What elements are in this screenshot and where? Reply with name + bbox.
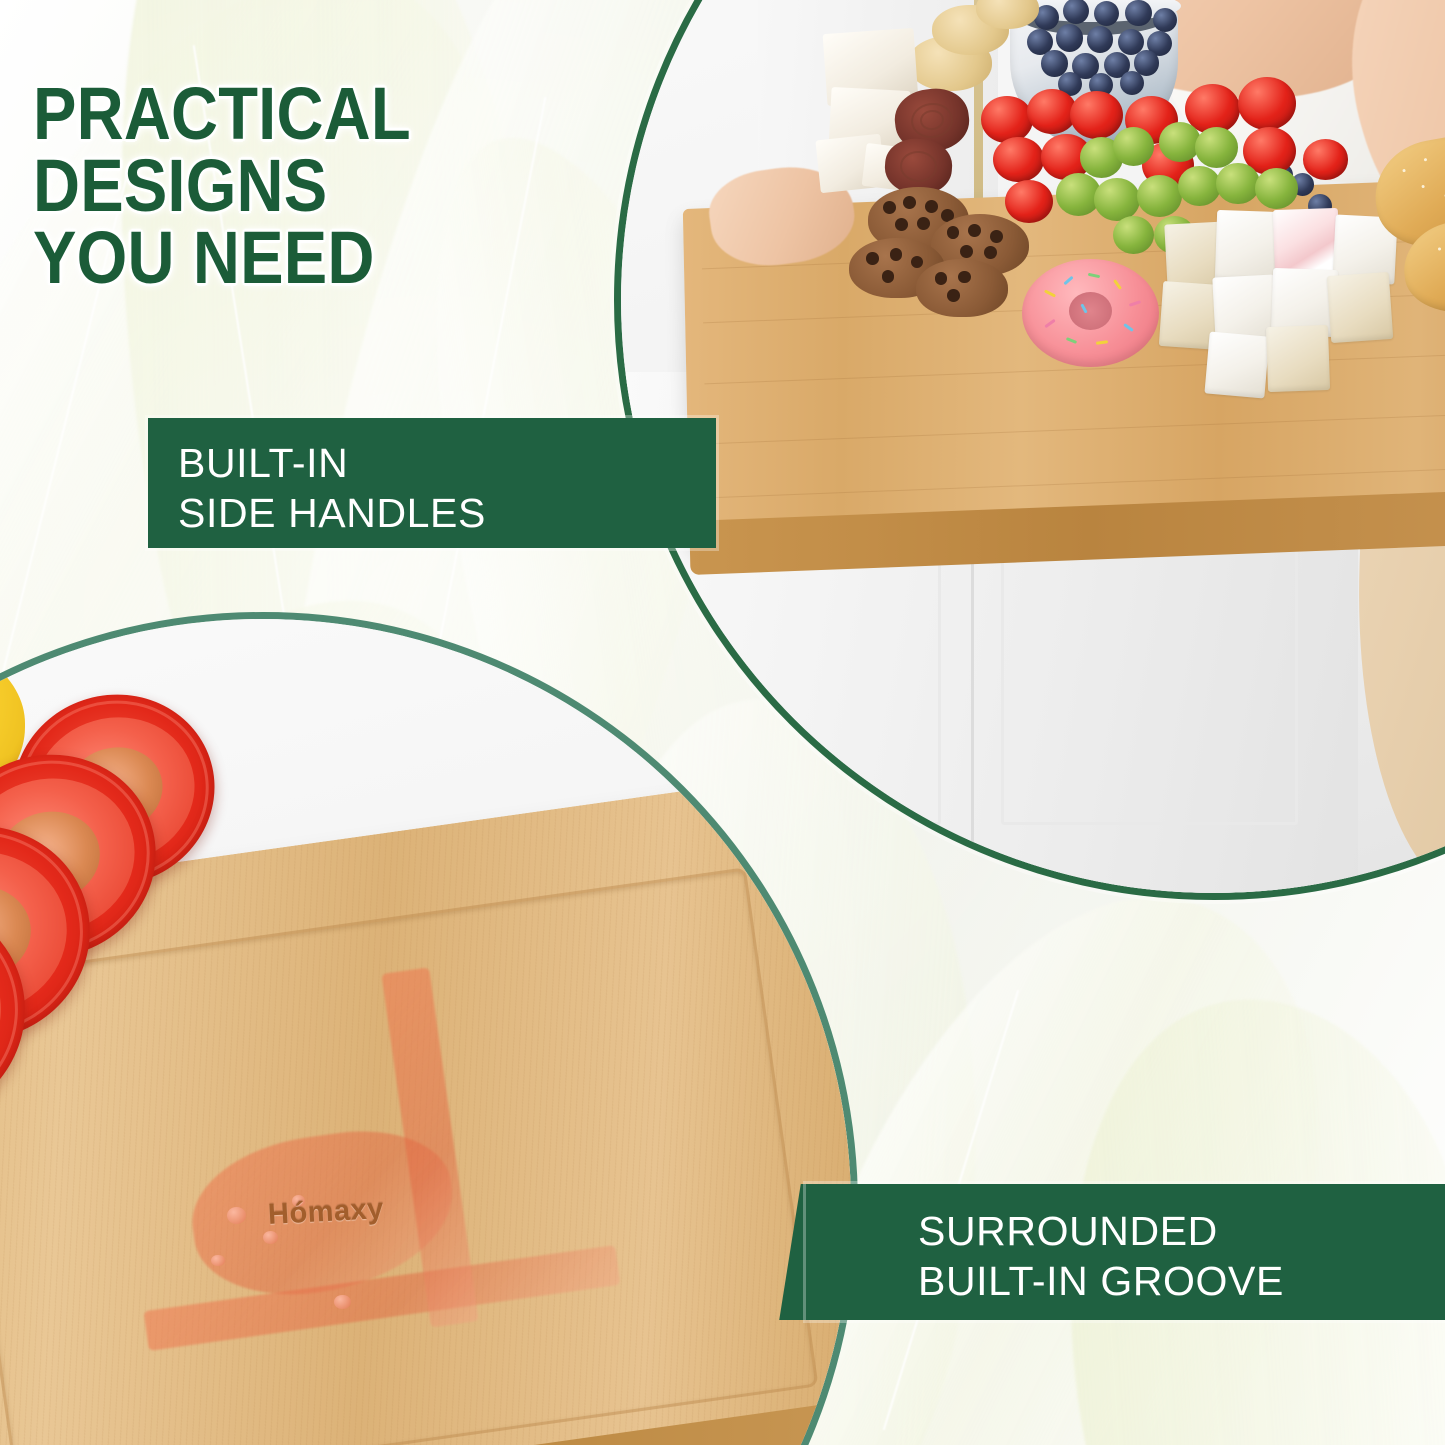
chocolate-chip xyxy=(890,248,902,261)
photo-cutting-board xyxy=(0,612,858,1445)
green-plum xyxy=(1094,178,1140,221)
sprinkle xyxy=(1113,279,1122,290)
chocolate-chip xyxy=(984,246,997,259)
sprinkle xyxy=(1044,289,1056,297)
cherry-tomato xyxy=(1005,180,1053,223)
blueberry xyxy=(1125,0,1151,26)
sprinkle xyxy=(1096,340,1108,345)
sprinkle xyxy=(1129,301,1141,308)
infographic-canvas: Hómaxy PRACTICAL DESIGNS YOU NEED BUILT-… xyxy=(0,0,1445,1445)
sesame-seed xyxy=(1421,185,1424,188)
cherry-tomato xyxy=(993,137,1043,183)
green-plum xyxy=(1216,163,1259,204)
sesame-seed xyxy=(1424,158,1427,161)
green-plum xyxy=(1255,168,1298,209)
chocolate-chip-cookie xyxy=(916,259,1007,317)
cake-cube xyxy=(1266,325,1331,392)
sesame-seed xyxy=(1437,247,1440,250)
sprinkle xyxy=(1087,273,1099,278)
feature-banner-side-handles: BUILT-IN SIDE HANDLES xyxy=(148,418,716,548)
chocolate-chip xyxy=(911,256,923,269)
chocolate-chip xyxy=(882,270,894,283)
cake-cube xyxy=(1204,331,1269,398)
chocolate-chip xyxy=(866,252,878,265)
green-plum xyxy=(1137,175,1181,217)
chocolate-chip xyxy=(958,271,971,284)
chocolate-chip xyxy=(990,230,1003,243)
page-title: PRACTICAL DESIGNS YOU NEED xyxy=(33,78,719,293)
pink-sprinkle-donut xyxy=(1022,259,1159,367)
sprinkle xyxy=(1066,337,1077,344)
chocolate-chip xyxy=(947,289,960,302)
headline-line-1: PRACTICAL DESIGNS xyxy=(33,72,410,227)
chocolate-chip xyxy=(917,217,930,230)
chocolate-chip xyxy=(960,245,973,258)
brand-logo-engraved: Hómaxy xyxy=(267,1193,384,1232)
board-grain xyxy=(705,411,1445,445)
cherry-tomato xyxy=(1070,91,1123,139)
chocolate-chip xyxy=(947,226,960,239)
cake-cube xyxy=(1327,271,1394,342)
cherry-tomato xyxy=(1238,77,1296,130)
roll-swirl xyxy=(899,150,939,183)
chocolate-chip xyxy=(935,272,948,285)
chocolate-chip xyxy=(925,200,938,213)
blueberry xyxy=(1087,26,1113,52)
sesame-seed xyxy=(1402,169,1405,172)
cake-cube xyxy=(1215,210,1280,282)
headline-line-2: YOU NEED xyxy=(33,222,719,294)
juice-droplet xyxy=(227,1207,246,1224)
feature-banner-built-in-groove-label: SURROUNDED BUILT-IN GROOVE xyxy=(918,1206,1445,1306)
sprinkle xyxy=(1063,275,1073,285)
board-grain xyxy=(707,465,1445,499)
sprinkle xyxy=(1044,319,1055,328)
feature-banner-built-in-groove: SURROUNDED BUILT-IN GROOVE xyxy=(806,1184,1445,1320)
green-plum xyxy=(1113,216,1154,254)
feature-banner-side-handles-label: BUILT-IN SIDE HANDLES xyxy=(178,438,716,538)
chocolate-chip xyxy=(903,196,916,209)
green-plum xyxy=(1195,127,1238,168)
chocolate-chip xyxy=(895,218,908,231)
chocolate-chip xyxy=(883,201,896,214)
cherry-tomato xyxy=(1303,139,1349,180)
cherry-tomato xyxy=(981,96,1033,143)
sprinkle xyxy=(1123,323,1134,332)
donut-hole xyxy=(1069,292,1113,331)
green-plum xyxy=(1113,127,1154,165)
blueberry xyxy=(1056,24,1084,52)
chocolate-chip xyxy=(968,224,981,237)
